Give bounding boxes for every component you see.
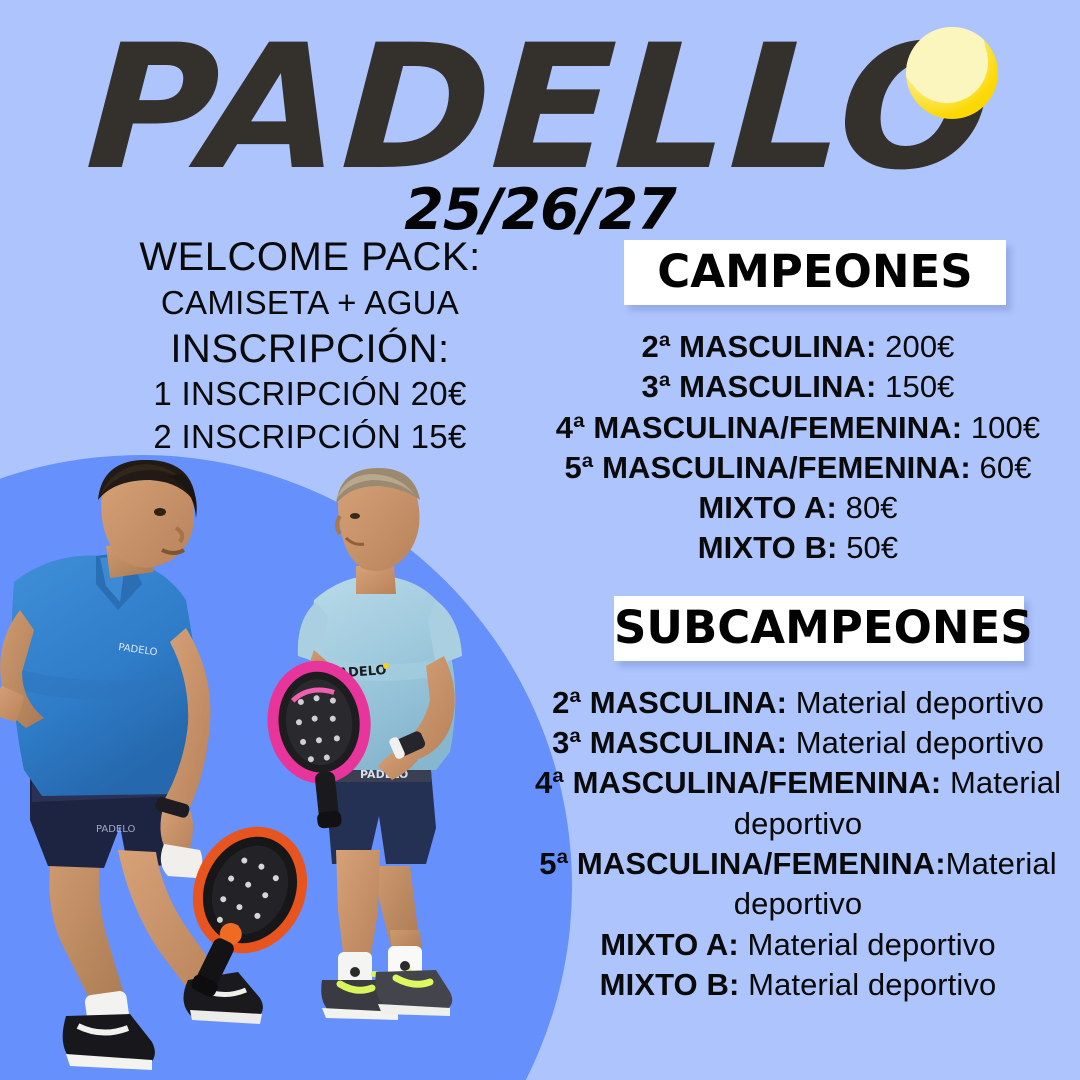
svg-text:PADELO: PADELO	[96, 824, 135, 835]
prize-value: Material deportivo	[787, 685, 1044, 720]
subcampeones-list: 2ª MASCULINA: Material deportivo 3ª MASC…	[516, 683, 1080, 1005]
event-dates: 25/26/27	[0, 182, 1080, 239]
prize-row: MIXTO B: 50€	[516, 528, 1080, 568]
campeones-banner: CAMPEONES	[624, 240, 1006, 305]
prize-row: MIXTO B: Material deportivo	[516, 965, 1080, 1005]
prize-category: 5ª MASCULINA/FEMENINA:	[564, 450, 970, 485]
left-info-block: WELCOME PACK: CAMISETA + AGUA INSCRIPCIÓ…	[30, 233, 590, 459]
campeones-banner-label: CAMPEONES	[657, 245, 972, 298]
prize-category: 4ª MASCULINA/FEMENINA:	[535, 765, 941, 800]
brand-title: PADELLO	[83, 22, 997, 194]
welcome-pack-value: CAMISETA + AGUA	[30, 282, 590, 325]
inscripcion-label: INSCRIPCIÓN:	[30, 325, 590, 374]
subcampeones-banner-label: SUBCAMPEONES	[614, 601, 1033, 654]
prize-value: Material deportivo	[739, 927, 996, 962]
prize-category: MIXTO A:	[698, 490, 837, 525]
prize-category: 2ª MASCULINA:	[641, 329, 876, 364]
prize-row: 5ª MASCULINA/FEMENINA: 60€	[516, 448, 1080, 488]
prize-row: MIXTO A: Material deportivo	[516, 925, 1080, 965]
prize-value: 60€	[971, 450, 1032, 485]
prize-category: MIXTO B:	[600, 967, 740, 1002]
standing-player: PADELO	[267, 468, 462, 1020]
prize-value: 200€	[876, 329, 954, 364]
inscripcion-line-1: 1 INSCRIPCIÓN 20€	[30, 373, 590, 416]
subcampeones-banner: SUBCAMPEONES	[614, 596, 1024, 661]
prize-category: 5ª MASCULINA/FEMENINA:	[539, 846, 945, 881]
prize-row: 3ª MASCULINA: 150€	[516, 367, 1080, 407]
inscripcion-line-2: 2 INSCRIPCIÓN 15€	[30, 416, 590, 459]
prize-value: Material deportivo	[739, 967, 996, 1002]
crouching-player: PADELO PADELO	[0, 460, 321, 1070]
prize-value: 150€	[876, 369, 954, 404]
prize-value: 50€	[837, 530, 898, 565]
prize-row: 5ª MASCULINA/FEMENINA:Material deportivo	[516, 844, 1080, 925]
prize-category: MIXTO B:	[698, 530, 838, 565]
prize-value: 80€	[837, 490, 898, 525]
prize-value: Material deportivo	[787, 725, 1044, 760]
prizes-column: CAMPEONES 2ª MASCULINA: 200€ 3ª MASCULIN…	[516, 240, 1080, 1005]
tennis-ball-icon	[906, 27, 998, 119]
prize-category: 2ª MASCULINA:	[552, 685, 787, 720]
prize-category: MIXTO A:	[600, 927, 739, 962]
prize-row: 4ª MASCULINA/FEMENINA: 100€	[516, 408, 1080, 448]
prize-category: 4ª MASCULINA/FEMENINA:	[556, 410, 962, 445]
prize-row: MIXTO A: 80€	[516, 488, 1080, 528]
prize-row: 4ª MASCULINA/FEMENINA: Material deportiv…	[516, 763, 1080, 844]
prize-row: 2ª MASCULINA: 200€	[516, 327, 1080, 367]
tennis-ball-seam	[906, 27, 986, 97]
prize-row: 3ª MASCULINA: Material deportivo	[516, 723, 1080, 763]
prize-row: 2ª MASCULINA: Material deportivo	[516, 683, 1080, 723]
prize-category: 3ª MASCULINA:	[552, 725, 787, 760]
poster-canvas: PADELO	[0, 0, 1080, 1080]
prize-category: 3ª MASCULINA:	[641, 369, 876, 404]
players-photo: PADELO	[0, 460, 600, 1080]
section-spacer	[516, 569, 1080, 596]
prize-value: 100€	[962, 410, 1040, 445]
campeones-list: 2ª MASCULINA: 200€ 3ª MASCULINA: 150€ 4ª…	[516, 327, 1080, 569]
